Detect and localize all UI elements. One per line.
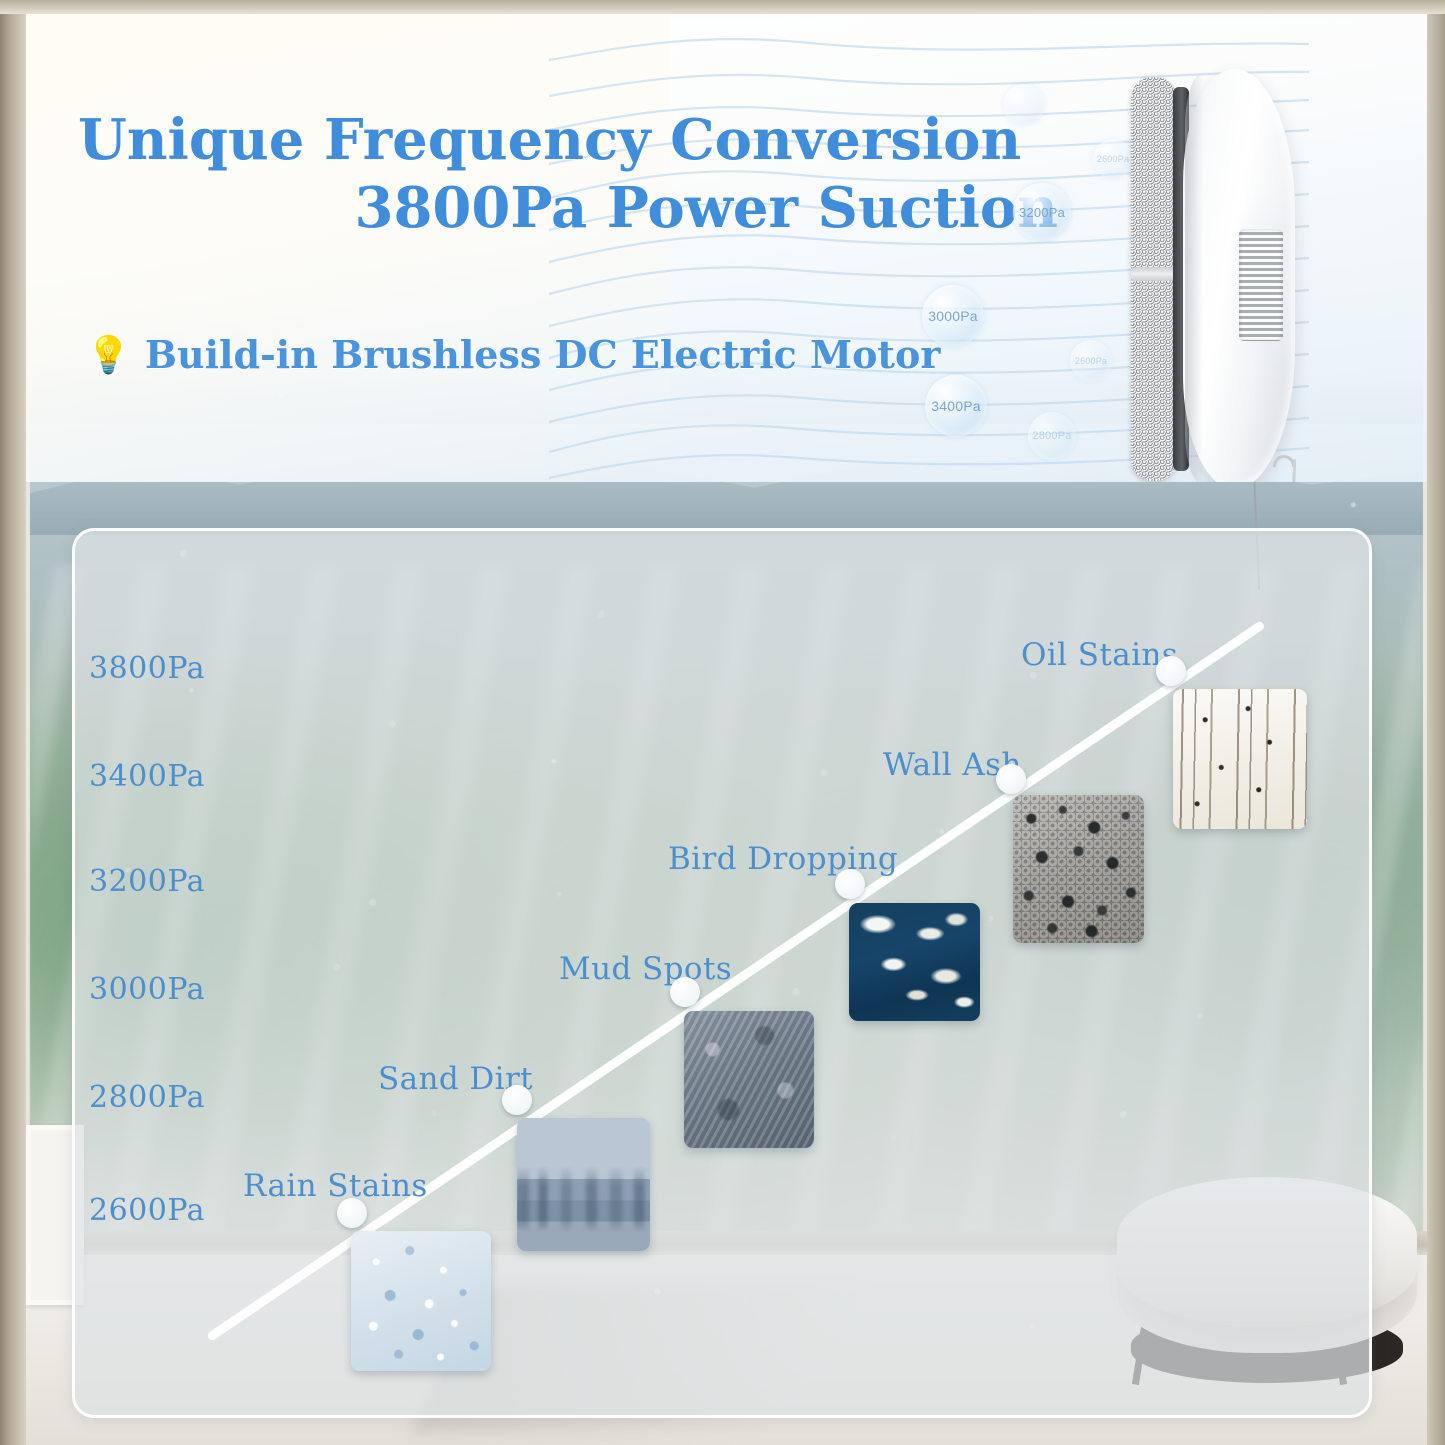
bird-dropping-thumbnail [849, 903, 980, 1021]
sand-dirt-thumbnail [517, 1118, 650, 1251]
rain-stains-thumbnail [351, 1231, 491, 1371]
suction-chart-panel: 2600Pa2800Pa3000Pa3200Pa3400Pa3800Pa Rai… [72, 528, 1372, 1418]
pressure-bubble-3000pa: 3000Pa [922, 285, 984, 347]
data-point-label-bird-dropping: Bird Dropping [668, 841, 898, 877]
window-cleaning-robot [1131, 69, 1299, 482]
pressure-bubble-3400pa: 3400Pa [925, 375, 987, 437]
data-point-node-rain-stains [337, 1198, 367, 1228]
pressure-bubble-plain [1003, 84, 1045, 126]
wall-left [0, 0, 26, 1445]
lightbulb-icon: 💡 [86, 337, 131, 373]
infographic-stage: Unique Frequency Conversion 3800Pa Power… [0, 0, 1445, 1445]
wall-top [0, 0, 1445, 14]
wall-right [1427, 0, 1445, 1445]
cord-hook [1273, 455, 1295, 467]
oil-stains-thumbnail [1173, 689, 1307, 829]
title-line-1: Unique Frequency Conversion [78, 106, 1058, 174]
data-point-node-mud-spots [670, 977, 700, 1007]
data-point-label-rain-stains: Rain Stains [243, 1168, 428, 1204]
mud-spots-thumbnail [684, 1011, 814, 1148]
hero-panel: Unique Frequency Conversion 3800Pa Power… [26, 14, 1427, 482]
pressure-bubble-2600pa: 2600Pa [1070, 340, 1112, 382]
data-point-node-wall-ash [996, 764, 1026, 794]
device-body-edge [1185, 73, 1203, 482]
subtitle: 💡 Build-in Brushless DC Electric Motor [86, 332, 940, 377]
air-vent-grille [1239, 229, 1283, 341]
pressure-bubble-3200pa: 3200Pa [1013, 183, 1071, 241]
data-point-node-bird-dropping [835, 869, 865, 899]
data-point-node-oil-stains [1156, 656, 1186, 686]
pressure-bubble-2600pa: 2600Pa [1093, 139, 1133, 179]
data-point-label-oil-stains: Oil Stains [1021, 637, 1178, 673]
subtitle-text: Build-in Brushless DC Electric Motor [145, 332, 941, 377]
mop-pad-seam [1131, 267, 1177, 281]
wall-ash-thumbnail [1013, 795, 1144, 943]
data-point-node-sand-dirt [502, 1085, 532, 1115]
pressure-bubble-2800pa: 2800Pa [1028, 412, 1076, 460]
title-line-2: 3800Pa Power Suction [78, 174, 1058, 242]
page-title: Unique Frequency Conversion 3800Pa Power… [78, 106, 1058, 243]
data-point-label-mud-spots: Mud Spots [559, 951, 732, 987]
